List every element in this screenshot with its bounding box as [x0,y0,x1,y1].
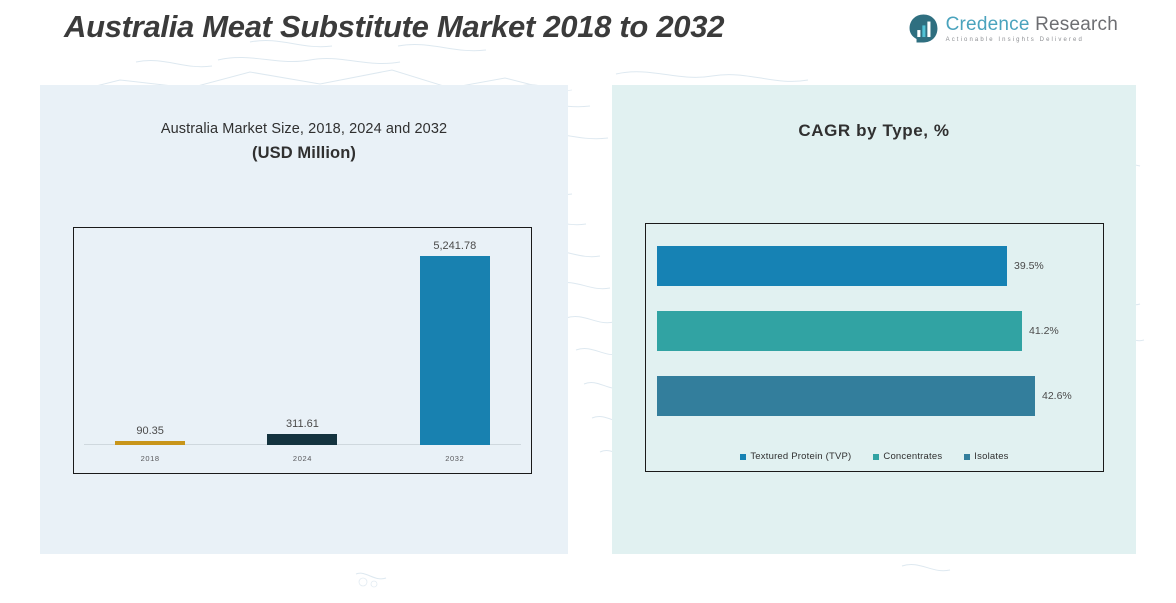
market-size-plot-area: 90.35 311.61 5,241.78 2018 2024 2032 [74,228,531,473]
bar-textured-protein [657,246,1007,286]
x-tick-2024: 2024 [226,454,378,463]
logo-name-first: Credence [946,14,1030,35]
bar-2018 [115,441,185,445]
right-chart-title: CAGR by Type, % [612,121,1136,141]
legend-swatch-icon [740,454,746,460]
bar-value-isolates: 42.6% [1042,390,1072,402]
left-chart-subtitle: Australia Market Size, 2018, 2024 and 20… [40,121,568,137]
bar-row-isolates: 42.6% [657,376,1072,416]
bar-value-2032: 5,241.78 [433,240,476,252]
bar-value-2024: 311.61 [286,418,319,430]
bar-group-2032: 5,241.78 [379,243,531,445]
bar-group-2024: 311.61 [226,243,378,445]
header: Australia Meat Substitute Market 2018 to… [0,0,1176,62]
bar-value-concentrates: 41.2% [1029,325,1059,337]
legend-item-isolates[interactable]: Isolates [964,451,1008,462]
bar-row-concentrates: 41.2% [657,311,1059,351]
bar-2024 [267,434,337,445]
x-tick-2018: 2018 [74,454,226,463]
legend-swatch-icon [873,454,879,460]
legend-swatch-icon [964,454,970,460]
right-chart-panel: CAGR by Type, % 39.5% 41.2% 42.6% Textur… [612,85,1136,554]
cagr-by-type-bar-chart: 39.5% 41.2% 42.6% Textured Protein (TVP)… [645,223,1104,472]
legend-label: Isolates [974,451,1008,462]
page-title: Australia Meat Substitute Market 2018 to… [64,9,724,45]
legend-item-textured-protein[interactable]: Textured Protein (TVP) [740,451,851,462]
logo-tagline: Actionable Insights Delivered [946,37,1118,43]
bar-concentrates [657,311,1022,351]
legend-label: Textured Protein (TVP) [750,451,851,462]
bar-row-textured-protein: 39.5% [657,246,1044,286]
infographic-page: Australia Meat Substitute Market 2018 to… [0,0,1176,603]
logo-name: Credence Research [946,15,1118,34]
bar-value-2018: 90.35 [136,425,164,437]
x-tick-2032: 2032 [379,454,531,463]
legend-label: Concentrates [883,451,942,462]
left-chart-unit-label: (USD Million) [40,144,568,163]
bar-2032 [420,256,490,445]
brand-logo: Credence Research Actionable Insights De… [908,13,1118,44]
bar-isolates [657,376,1035,416]
legend-item-concentrates[interactable]: Concentrates [873,451,942,462]
logo-name-second: Research [1035,14,1118,35]
bar-value-textured-protein: 39.5% [1014,260,1044,272]
left-chart-panel: Australia Market Size, 2018, 2024 and 20… [40,85,568,554]
bar-group-2018: 90.35 [74,243,226,445]
logo-text: Credence Research Actionable Insights De… [946,15,1118,43]
bar-chart-bubble-icon [908,13,939,44]
cagr-legend: Textured Protein (TVP) Concentrates Isol… [646,451,1103,462]
market-size-bar-chart: 90.35 311.61 5,241.78 2018 2024 2032 [73,227,532,474]
